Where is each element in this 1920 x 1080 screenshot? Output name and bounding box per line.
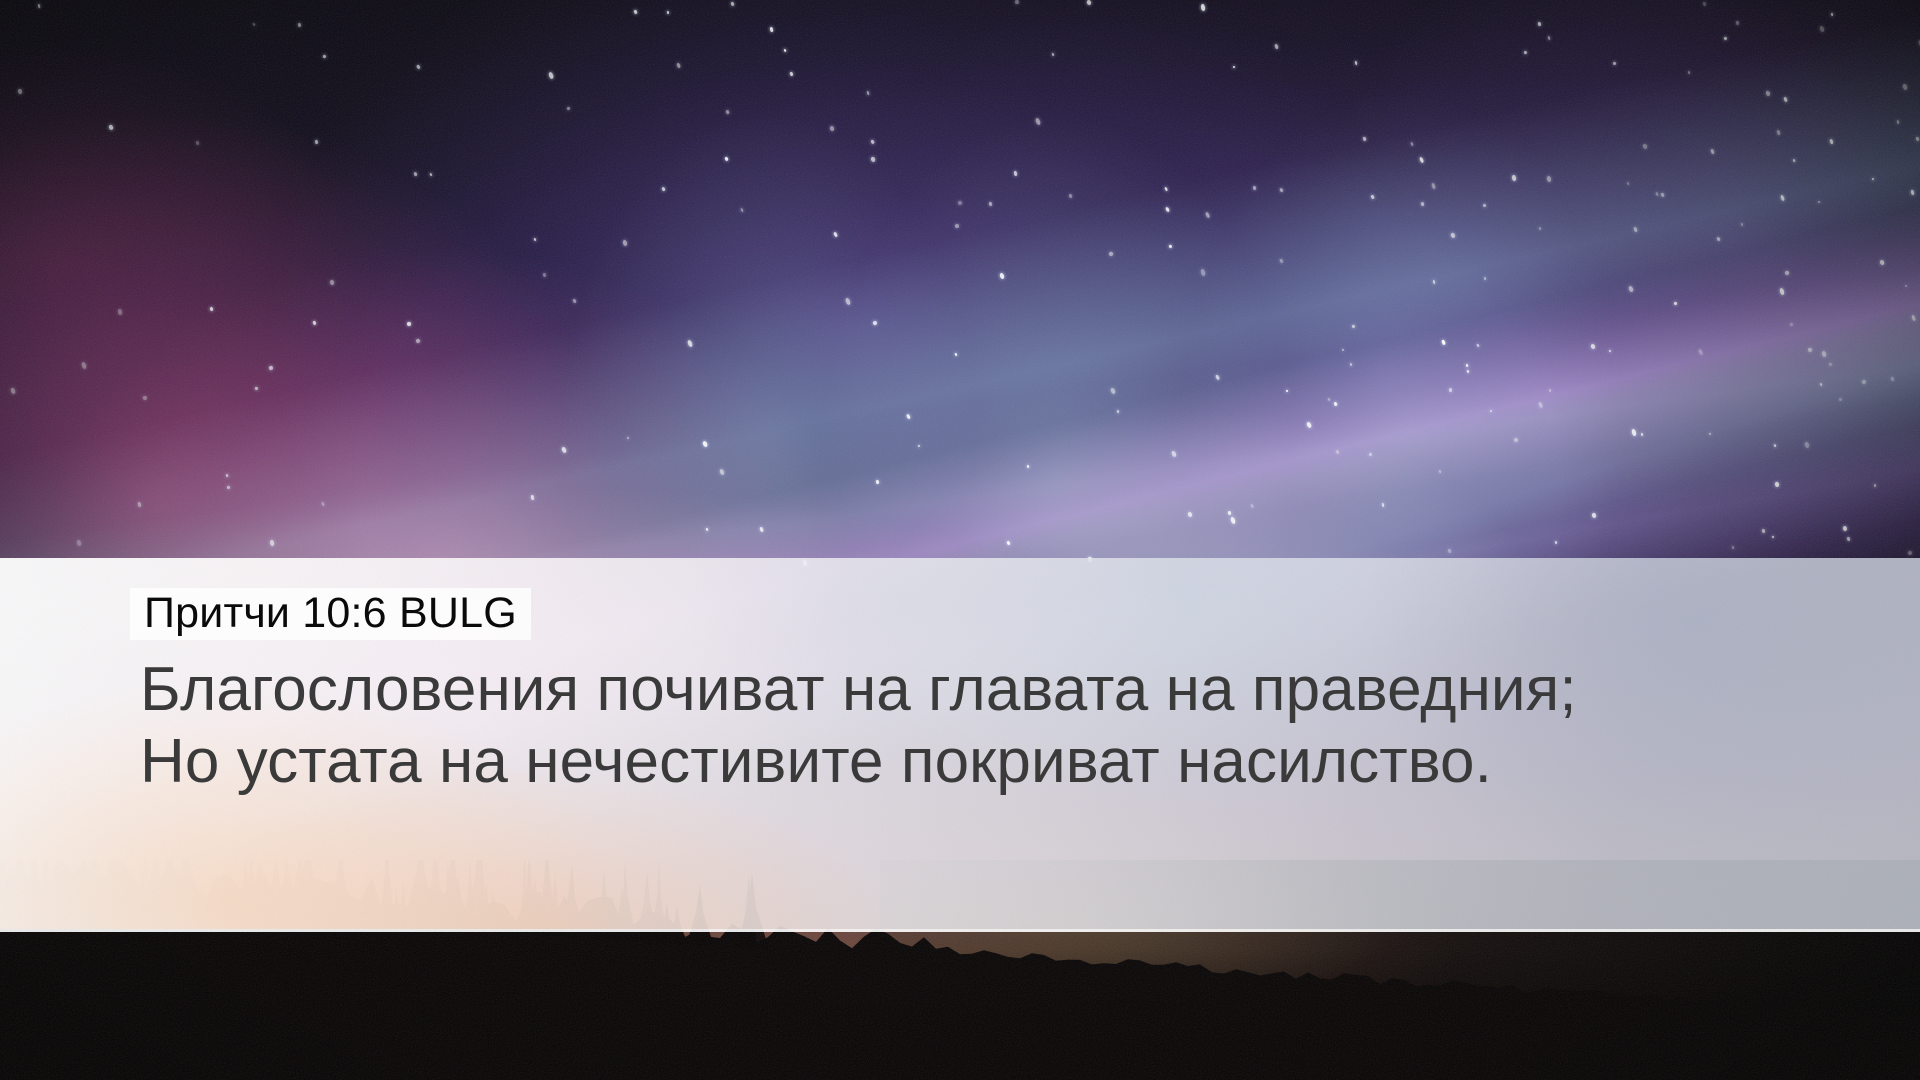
star (1709, 432, 1711, 434)
star (227, 485, 231, 489)
star (1165, 207, 1170, 213)
star (1433, 280, 1436, 284)
star (1828, 362, 1832, 366)
star (1897, 119, 1900, 124)
star (1779, 288, 1785, 296)
star (1233, 66, 1236, 69)
star (957, 200, 962, 205)
star (1352, 325, 1355, 329)
star (1439, 470, 1442, 474)
verse-reference-highlight: Притчи 10:6 BULG (130, 588, 531, 640)
star (1368, 452, 1372, 456)
star (759, 527, 763, 532)
star (1466, 369, 1469, 372)
star (1441, 339, 1445, 344)
star (1830, 139, 1835, 145)
star (1354, 61, 1357, 65)
star (560, 446, 566, 453)
star (1613, 61, 1617, 65)
star (1765, 91, 1770, 97)
star (209, 307, 213, 312)
star (1334, 401, 1338, 406)
star (1911, 315, 1916, 321)
star (530, 495, 534, 501)
star (1661, 192, 1665, 196)
star (783, 49, 786, 52)
star (1790, 323, 1793, 327)
star (1590, 343, 1596, 349)
star (1907, 550, 1912, 555)
star (876, 480, 880, 485)
star (687, 340, 693, 348)
star (1546, 176, 1551, 183)
star (1687, 70, 1690, 74)
star (1482, 203, 1486, 207)
star (1187, 511, 1193, 517)
star (1609, 350, 1611, 353)
star (1555, 541, 1558, 545)
star (627, 436, 629, 438)
star (955, 353, 958, 357)
star (548, 71, 554, 79)
star (1775, 481, 1780, 486)
star (770, 27, 774, 32)
star (1205, 211, 1210, 217)
star (413, 171, 418, 176)
star (1820, 383, 1823, 386)
star (1335, 450, 1339, 455)
star (1286, 390, 1288, 392)
star (1631, 428, 1637, 436)
star (1539, 227, 1542, 231)
star (1448, 387, 1452, 392)
star (1200, 269, 1206, 277)
star (1362, 137, 1365, 141)
star (1905, 285, 1907, 287)
star (1911, 190, 1915, 195)
star (252, 22, 255, 26)
verse-content: Притчи 10:6 BULG Благословения почиват н… (0, 558, 1920, 932)
star (1052, 52, 1054, 55)
star (1549, 389, 1552, 392)
star (1783, 97, 1787, 103)
star (740, 208, 744, 213)
star (1773, 444, 1776, 448)
star (845, 297, 851, 305)
star (1253, 186, 1257, 190)
star (17, 89, 21, 94)
star (137, 502, 141, 508)
star (1831, 13, 1834, 16)
star (726, 110, 731, 115)
star (1450, 232, 1455, 238)
star (1279, 259, 1283, 264)
star (1274, 43, 1279, 49)
star (1723, 36, 1727, 40)
star (906, 413, 911, 419)
star (1655, 192, 1659, 197)
star (1484, 277, 1487, 280)
star (1006, 541, 1010, 546)
star (1873, 483, 1876, 487)
star (226, 474, 229, 477)
star (989, 201, 993, 206)
star (833, 231, 838, 237)
star (118, 309, 123, 316)
star (1306, 421, 1312, 428)
star (917, 445, 919, 448)
star (1014, 171, 1018, 176)
star (1702, 2, 1706, 7)
star (830, 126, 835, 132)
star (1842, 525, 1847, 531)
star (1110, 388, 1116, 395)
star (1511, 175, 1516, 181)
star (1341, 349, 1343, 351)
star (1717, 237, 1722, 242)
star (322, 501, 325, 505)
star (1279, 188, 1284, 193)
star (1626, 181, 1629, 184)
star (1821, 351, 1827, 358)
star (1735, 20, 1738, 24)
star (269, 539, 274, 545)
star (1476, 344, 1479, 347)
star (10, 387, 15, 393)
star (724, 157, 728, 162)
star (1524, 50, 1528, 54)
star (1109, 252, 1114, 257)
star (329, 280, 334, 286)
star (1328, 398, 1331, 401)
star (1861, 380, 1866, 385)
star (1915, 136, 1919, 141)
verse-reference: Притчи 10:6 BULG (144, 589, 517, 637)
verse-line-1: Благословения почиват на главата на прав… (140, 654, 1920, 726)
star (999, 272, 1005, 279)
star (77, 540, 82, 546)
star (1761, 529, 1765, 534)
star (196, 140, 200, 144)
star (667, 10, 670, 14)
star (1732, 545, 1735, 548)
star (567, 106, 571, 110)
star (430, 172, 433, 176)
star (1537, 21, 1541, 26)
star (1164, 186, 1168, 190)
star (315, 140, 319, 145)
star (534, 238, 537, 242)
star (415, 338, 420, 343)
star (719, 468, 725, 475)
star (1634, 227, 1639, 233)
verse-overlay-band: Притчи 10:6 BULG Благословения почиват н… (0, 558, 1920, 932)
star (1170, 451, 1176, 458)
star (38, 4, 41, 8)
star (1879, 259, 1885, 265)
star (867, 90, 870, 94)
star (1410, 142, 1414, 147)
star (1804, 442, 1810, 449)
star (1771, 535, 1773, 538)
star (872, 320, 877, 325)
star (1673, 301, 1677, 305)
star (268, 365, 273, 370)
star (1776, 130, 1781, 136)
star (1117, 409, 1120, 413)
star (1068, 194, 1072, 198)
star (1419, 156, 1424, 162)
verse-line-2: Но устата на нечестивите покриват насилс… (140, 726, 1920, 798)
star (1350, 363, 1352, 366)
star (108, 125, 113, 131)
star (416, 65, 420, 70)
star (1465, 364, 1468, 367)
verse-body: Благословения почиват на главата на прав… (140, 654, 1920, 798)
verse-image-canvas: Притчи 10:6 BULG Благословения почиват н… (0, 0, 1920, 1080)
star (954, 223, 959, 228)
star (870, 140, 874, 144)
star (407, 322, 411, 326)
star (1421, 202, 1425, 207)
star (1035, 118, 1041, 126)
star (1489, 409, 1492, 412)
star (633, 10, 637, 14)
star (1513, 438, 1518, 443)
star (1642, 143, 1648, 149)
star (1780, 194, 1785, 200)
star (1370, 195, 1374, 199)
star (1741, 223, 1744, 227)
star (1168, 245, 1171, 249)
star (1847, 537, 1851, 542)
star (1250, 504, 1253, 508)
star (1431, 182, 1436, 189)
star (1710, 148, 1715, 154)
star (1902, 84, 1907, 91)
star (1448, 549, 1452, 553)
star (730, 2, 734, 6)
star (1793, 159, 1796, 162)
star (298, 23, 302, 28)
star (1807, 347, 1811, 352)
star (870, 156, 875, 162)
star (1228, 511, 1232, 515)
star (1027, 465, 1029, 468)
star (702, 441, 708, 448)
star (1014, 0, 1018, 5)
star (662, 186, 667, 191)
star (1698, 348, 1703, 354)
star (323, 54, 327, 58)
star (1890, 377, 1894, 382)
star (1201, 4, 1206, 11)
star (1381, 503, 1384, 507)
star (254, 386, 258, 390)
star (81, 362, 87, 370)
star (1839, 398, 1843, 402)
star (1641, 433, 1644, 436)
star (1819, 25, 1825, 32)
star (1591, 512, 1596, 518)
star (705, 528, 708, 531)
star (1229, 516, 1235, 524)
star (543, 273, 546, 277)
star (1871, 177, 1874, 180)
star (1818, 201, 1821, 204)
star (623, 240, 628, 247)
star (142, 395, 147, 401)
star (1547, 36, 1550, 41)
star (313, 320, 317, 325)
star (1215, 374, 1219, 379)
star (1086, 0, 1092, 6)
star (1784, 270, 1789, 275)
star (789, 71, 793, 76)
star (1628, 285, 1634, 292)
star (572, 299, 576, 304)
star (1538, 402, 1543, 408)
star (676, 62, 681, 67)
